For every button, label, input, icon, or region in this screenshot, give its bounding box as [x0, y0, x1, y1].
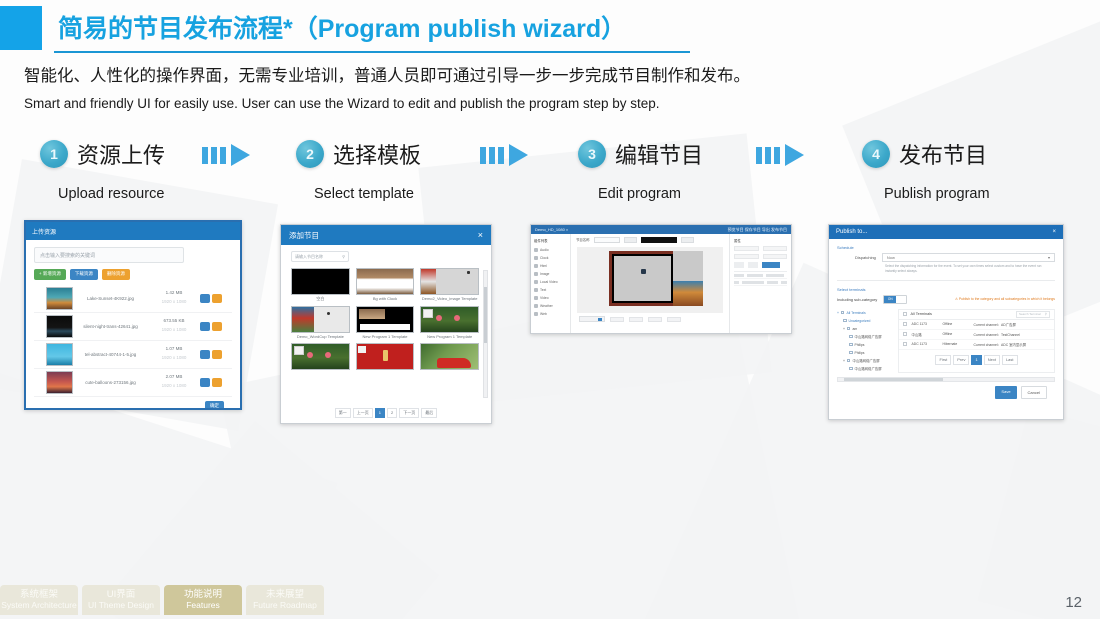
image-icon	[534, 272, 538, 276]
weather-icon	[534, 304, 538, 308]
resource-size: 1.42 MB1920 x 1080	[148, 289, 200, 306]
resource-thumbnail	[46, 287, 73, 310]
tab-system-architecture[interactable]: 系统框架 System Architecture	[0, 585, 78, 615]
upload-search-input[interactable]: 点击输入要搜索的关键词	[34, 247, 184, 263]
template-caption: New Program 1 Template	[356, 334, 415, 339]
resource-thumbnail	[46, 371, 73, 394]
bottom-chip-1[interactable]	[610, 317, 624, 322]
arrow-right-icon-3	[756, 144, 804, 166]
step-2: 2 选择模板 Select template	[296, 134, 421, 202]
table-row[interactable]: ADC 1173 Offline Current channel：AD广告屏	[899, 320, 1054, 330]
footer-tabs: 系统框架 System Architecture UI界面 UI Theme D…	[0, 585, 324, 617]
property-field[interactable]	[734, 246, 759, 251]
property-field[interactable]	[763, 246, 788, 251]
tree-node-all-terminals[interactable]: +All Terminals	[837, 309, 893, 317]
upload-window-title: 上传资源	[26, 222, 240, 240]
slide-stage: 简易的节目发布流程*（Program publish wizard） 智能化、人…	[0, 0, 1100, 619]
video-icon	[534, 280, 538, 284]
film-icon	[534, 296, 538, 300]
list-item[interactable]	[356, 343, 415, 371]
terminal-status: Offline	[943, 322, 969, 326]
resource-thumbnail	[46, 315, 73, 338]
table-row[interactable]: Lake-Sunset-4K922.jpg 1.42 MB1920 x 1080	[34, 285, 232, 313]
divider	[837, 280, 1055, 281]
tree-node-child-1[interactable]: 中山路网络广告屏	[837, 333, 893, 341]
toolbar-chip[interactable]	[624, 237, 637, 243]
pager-prev[interactable]: Prev	[953, 355, 969, 365]
step-1-label-en: Upload resource	[58, 186, 165, 202]
resource-name: cute-balloons-273156.jpg	[73, 380, 148, 385]
terminal-search-input[interactable]: Search Terminal ⚲	[1016, 311, 1050, 318]
terminal-channel: Current channel：ADC 室内显示屏	[974, 342, 1051, 347]
property-field[interactable]	[763, 254, 788, 259]
resource-list: Lake-Sunset-4K922.jpg 1.42 MB1920 x 1080…	[34, 285, 232, 397]
pager-page-1[interactable]: 1	[375, 408, 385, 418]
step-2-label-cn: 选择模板	[333, 138, 421, 170]
pager-last[interactable]: 最后	[421, 408, 437, 418]
cursor-icon	[641, 269, 646, 274]
scrollbar[interactable]	[483, 270, 488, 398]
table-row[interactable]: tel-abstract-40744-1-5.jpg 1.07 MB1920 x…	[34, 341, 232, 369]
arrow-right-icon-2	[480, 144, 528, 166]
pager-prev[interactable]: 上一页	[353, 408, 373, 418]
template-caption: 空白	[291, 296, 350, 302]
text-icon	[534, 288, 538, 292]
canvas-frame[interactable]	[609, 251, 676, 306]
step-1: 1 资源上传 Upload resource	[40, 134, 165, 202]
list-item[interactable]: New Program 1 Template	[420, 306, 479, 339]
step-flow: 1 资源上传 Upload resource 2 选择模板 Select tem…	[0, 134, 1100, 206]
audio-icon	[534, 248, 538, 252]
search-icon: ⚲	[342, 254, 345, 259]
step-1-number: 1	[40, 140, 68, 168]
subtitle-english: Smart and friendly UI for easily use. Us…	[24, 96, 660, 111]
resource-name: Lake-Sunset-4K922.jpg	[73, 296, 148, 301]
table-title: All Terminals	[911, 312, 1017, 316]
template-thumbnail	[291, 268, 350, 295]
canvas-image-region[interactable]	[673, 251, 702, 306]
sidebar-item-weather[interactable]: Weather	[534, 302, 567, 310]
screenshot-upload-resource: 上传资源 点击输入要搜索的关键词 + 新增资源 下载资源 删除资源 Lake-S…	[24, 220, 242, 410]
editor-widget-sidebar: 组件列表 Audio Clock Html Image Local Video …	[531, 234, 571, 333]
template-thumbnail	[356, 306, 415, 333]
clock-icon	[534, 256, 538, 260]
dispatching-label: Dispatching	[855, 255, 876, 260]
bottom-chip-4[interactable]	[667, 317, 681, 322]
template-caption: Demo2_Video_image Template	[420, 296, 479, 301]
table-row[interactable]: 中山路 Offline Current channel：TestChannel	[899, 330, 1054, 340]
list-item[interactable]: New Program 1 Template	[356, 306, 415, 339]
title-underline	[54, 51, 690, 53]
terminal-channel: Current channel：AD广告屏	[974, 322, 1051, 327]
edit-resource-icon[interactable]	[200, 322, 210, 331]
sidebar-item-local-video[interactable]: Local Video	[534, 278, 567, 286]
template-window-title: 添加节目	[289, 230, 319, 241]
table-row[interactable]: silent-night-trans-42641.jpg 673.55 KB19…	[34, 313, 232, 341]
program-name-input[interactable]	[594, 237, 620, 243]
save-button[interactable]: Save	[995, 386, 1016, 399]
step-4: 4 发布节目 Publish program	[862, 134, 990, 202]
template-thumbnail	[356, 268, 415, 295]
properties-title: 属性	[734, 238, 787, 243]
subtitle-chinese: 智能化、人性化的操作界面，无需专业培训，普通人员即可通过引导一步一步完成节目制作…	[24, 62, 750, 86]
table-row[interactable]	[734, 272, 787, 279]
delete-resource-button[interactable]: 删除资源	[102, 269, 130, 280]
step-4-label-en: Publish program	[884, 186, 990, 202]
arrow-right-icon-1	[202, 144, 250, 166]
screenshot-edit-program: Demo_HD_1080 × 预览节目 保存节目 导出 发布节目 组件列表 Au…	[530, 224, 792, 334]
step-3-label-cn: 编辑节目	[615, 138, 703, 170]
terminal-name: ADC 1173	[912, 322, 938, 326]
tree-node-child-4[interactable]: +中山路网络广告屏	[837, 357, 893, 365]
sidebar-item-image[interactable]: Image	[534, 270, 567, 278]
tree-node-child-3[interactable]: Philips	[837, 349, 893, 357]
section-terminals: Select terminals	[837, 287, 1055, 292]
add-resource-button[interactable]: + 新增资源	[34, 269, 66, 280]
template-caption: Demo_WordCup Template	[291, 334, 350, 339]
tree-node-child-5[interactable]: 中山路网络广告屏	[837, 365, 893, 373]
download-resource-button[interactable]: 下载资源	[70, 269, 98, 280]
close-icon[interactable]: ×	[1052, 229, 1056, 235]
title-row: 简易的节目发布流程*（Program publish wizard）	[0, 6, 1100, 50]
terminal-pagination: First Prev 1 Next Last	[899, 350, 1054, 370]
terminal-channel: Current channel：TestChannel	[974, 332, 1051, 337]
editor-bottom-bar	[571, 313, 729, 325]
pager-page-2[interactable]: 2	[387, 408, 397, 418]
list-item[interactable]: Demo_WordCup Template	[291, 306, 350, 339]
tree-node-uncategorized[interactable]: Uncategorized	[837, 317, 893, 325]
template-thumbnail	[420, 343, 479, 370]
template-thumbnail	[356, 343, 415, 370]
pager-next[interactable]: 下一页	[399, 408, 419, 418]
toolbar-chip-2[interactable]	[681, 237, 694, 243]
subcategory-toggle[interactable]: ON	[883, 295, 907, 304]
tab-features[interactable]: 功能说明 Features	[164, 585, 242, 615]
template-grid-area: 空白 Bg with Clock Demo2_Video_image Templ…	[281, 266, 491, 402]
template-caption: New Program 1 Template	[420, 334, 479, 339]
toolbar-dark-field[interactable]	[641, 237, 677, 243]
publish-window-title: Publish to...	[836, 229, 867, 235]
upload-confirm-button[interactable]: 确定	[205, 401, 224, 411]
step-4-number: 4	[862, 140, 890, 168]
pager-first[interactable]: First	[935, 355, 951, 365]
pager-last[interactable]: Last	[1002, 355, 1018, 365]
prop-tab-basic[interactable]	[734, 262, 744, 268]
edit-resource-icon[interactable]	[200, 350, 210, 359]
page-title: 简易的节目发布流程*（Program publish wizard）	[58, 9, 626, 45]
tab-future-roadmap[interactable]: 未来展望 Future Roadmap	[246, 585, 324, 615]
resource-thumbnail	[46, 343, 73, 366]
resource-size: 1.07 MB1920 x 1080	[148, 345, 200, 362]
template-pagination: 第一 上一页 1 2 下一页 最后	[281, 408, 491, 418]
editor-toolbar-label: 节目名称	[576, 237, 590, 242]
step-1-label-cn: 资源上传	[77, 138, 165, 170]
edit-resource-icon[interactable]	[200, 378, 210, 387]
template-caption: Bg with Clock	[356, 296, 415, 301]
dispatching-hint: Select the dispatching information for t…	[885, 264, 1042, 274]
bottom-chip-3[interactable]	[648, 317, 662, 322]
step-3: 3 编辑节目 Edit program	[578, 134, 703, 202]
close-icon[interactable]: ×	[478, 230, 483, 240]
step-2-number: 2	[296, 140, 324, 168]
template-thumbnail	[420, 306, 479, 333]
row-checkbox[interactable]	[903, 342, 907, 346]
terminal-status: Hibernate	[943, 342, 969, 346]
step-3-number: 3	[578, 140, 606, 168]
step-2-label-en: Select template	[314, 186, 421, 202]
table-row[interactable]: ADC 1173 Hibernate Current channel：ADC 室…	[899, 340, 1054, 350]
template-thumbnail	[291, 343, 350, 370]
html-icon	[534, 264, 538, 268]
editor-canvas[interactable]	[577, 247, 723, 313]
sidebar-item-video[interactable]: Video	[534, 294, 567, 302]
table-row[interactable]	[734, 279, 787, 286]
resource-name: tel-abstract-40744-1-5.jpg	[73, 352, 148, 357]
prop-add-button[interactable]	[762, 262, 780, 268]
chevron-down-icon: ▾	[1048, 255, 1050, 260]
editor-window-title: Demo_HD_1080 ×	[535, 227, 568, 232]
section-schedule: Schedule	[837, 245, 1055, 250]
dispatching-select[interactable]: Now ▾	[882, 253, 1055, 262]
list-item[interactable]: Demo2_Video_image Template	[420, 268, 479, 302]
sidebar-item-clock[interactable]: Clock	[534, 254, 567, 262]
screenshot-select-template: 添加节目 × 请输入节目名称 ⚲ 空白 Bg with Clock	[280, 224, 492, 424]
globe-icon	[534, 312, 538, 316]
sidebar-title: 组件列表	[534, 238, 567, 243]
tab-ui-theme-design[interactable]: UI界面 UI Theme Design	[82, 585, 160, 615]
list-item[interactable]	[291, 343, 350, 371]
row-checkbox[interactable]	[903, 332, 907, 336]
title-accent-block	[0, 6, 42, 50]
table-row[interactable]: cute-balloons-273156.jpg 2.07 MB1920 x 1…	[34, 369, 232, 397]
pager-next[interactable]: Next	[984, 355, 1000, 365]
delete-resource-icon[interactable]	[212, 294, 222, 303]
template-search-input[interactable]: 请输入节目名称 ⚲	[291, 251, 349, 262]
bottom-chip-2[interactable]	[629, 317, 643, 322]
pager-page-1[interactable]: 1	[971, 355, 981, 365]
screenshot-publish-program: Publish to... × Schedule Dispatching Now…	[828, 224, 1064, 420]
terminal-category-tree: +All Terminals Uncategorized +am 中山路网络广告…	[837, 309, 893, 373]
delete-resource-icon[interactable]	[212, 350, 222, 359]
tree-node-child-2[interactable]: Philips	[837, 341, 893, 349]
resource-name: silent-night-trans-42641.jpg	[73, 324, 148, 329]
publish-warning: ⚠ Publish to the category and all subcat…	[955, 297, 1055, 301]
edit-resource-icon[interactable]	[200, 294, 210, 303]
resource-size: 673.55 KB1920 x 1080	[148, 317, 200, 334]
delete-resource-icon[interactable]	[212, 378, 222, 387]
resource-size: 2.07 MB1920 x 1080	[148, 373, 200, 390]
cancel-button[interactable]: Cancel	[1021, 386, 1047, 399]
delete-resource-icon[interactable]	[212, 322, 222, 331]
prop-tab-advanced[interactable]	[748, 262, 758, 268]
step-4-label-cn: 发布节目	[899, 138, 987, 170]
terminal-name: ADC 1173	[912, 342, 938, 346]
terminal-name: 中山路	[912, 332, 938, 337]
search-icon: ⚲	[1045, 312, 1047, 316]
editor-properties-panel: 属性	[729, 234, 791, 333]
step-3-label-en: Edit program	[598, 186, 703, 202]
tree-node-am[interactable]: +am	[837, 325, 893, 333]
terminal-status: Offline	[943, 332, 969, 336]
page-number: 12	[1065, 594, 1082, 611]
row-checkbox[interactable]	[903, 322, 907, 326]
terminal-table: All Terminals Search Terminal ⚲ ADC 1173…	[898, 309, 1055, 373]
list-item[interactable]: Bg with Clock	[356, 268, 415, 302]
template-thumbnail	[291, 306, 350, 333]
editor-toolbar: 节目名称	[571, 234, 729, 245]
list-item[interactable]	[420, 343, 479, 371]
sidebar-item-html[interactable]: Html	[534, 262, 567, 270]
sidebar-item-web[interactable]: Web	[534, 310, 567, 318]
material-list	[734, 271, 787, 286]
list-item[interactable]: 空白	[291, 268, 350, 302]
pager-first[interactable]: 第一	[335, 408, 351, 418]
zoom-slider[interactable]	[579, 316, 605, 322]
sidebar-item-text[interactable]: Text	[534, 286, 567, 294]
property-field[interactable]	[734, 254, 759, 259]
sidebar-item-audio[interactable]: Audio	[534, 246, 567, 254]
editor-menu-right[interactable]: 预览节目 保存节目 导出 发布节目	[728, 227, 787, 233]
template-thumbnail	[420, 268, 479, 295]
subcategory-label: Including sub-category	[837, 297, 877, 302]
